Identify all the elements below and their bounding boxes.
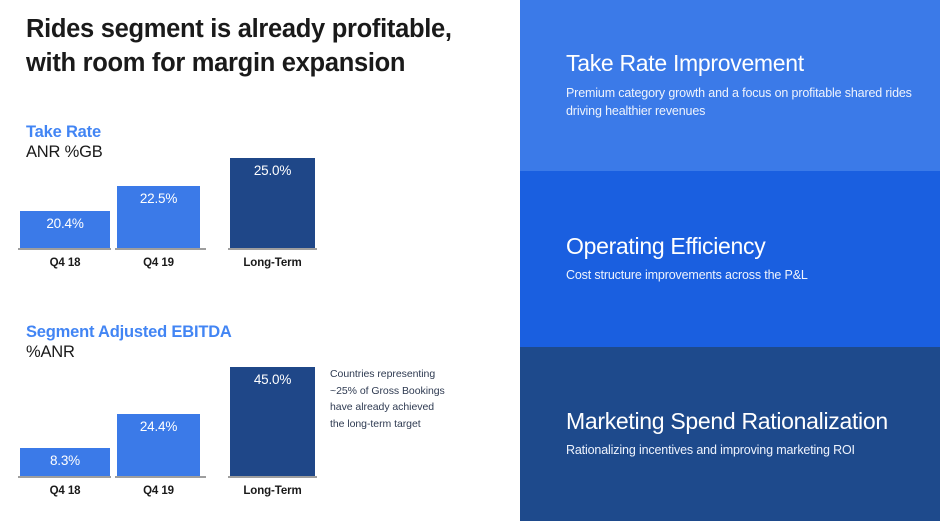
bar-label-ebitda-q4-18: Q4 18 [20,485,110,497]
annotation-line-4: the long-term target [330,418,421,430]
panel-marketing-spend-rationalization[interactable]: Marketing Spend Rationalization Rational… [520,347,940,521]
page-title-line-2: with room for margin expansion [26,49,405,77]
annotation-line-1: Countries representing [330,368,435,380]
annotation-line-3: have already achieved [330,401,434,413]
panel-title-operating-efficiency: Operating Efficiency [566,233,918,261]
panel-desc-take-rate-improvement: Premium category growth and a focus on p… [566,85,918,121]
axis-line-left [18,248,111,250]
page-title: Rides segment is already profitable, wit… [26,13,516,80]
bar-take-rate-q4-18[interactable]: 20.4% [20,211,110,248]
bar-value-take-rate-q4-18: 20.4% [20,216,110,231]
bar-value-ebitda-q4-18: 8.3% [20,453,110,468]
panel-title-marketing-spend-rationalization: Marketing Spend Rationalization [566,408,918,436]
bar-label-take-rate-q4-18: Q4 18 [20,257,110,269]
panel-desc-marketing-spend-rationalization: Rationalizing incentives and improving m… [566,442,918,460]
left-content-column: Rides segment is already profitable, wit… [0,0,520,521]
panel-desc-operating-efficiency: Cost structure improvements across the P… [566,267,918,285]
chart-take-rate-plot: 20.4% 22.5% 25.0% Q4 18 Q4 19 Long-Term [0,122,340,272]
chart-ebitda-plot: 8.3% 24.4% 45.0% Q4 18 Q4 19 Long-Term [0,322,340,500]
bar-value-take-rate-q4-19: 22.5% [117,191,200,206]
slide-root: Rides segment is already profitable, wit… [0,0,940,521]
bar-value-ebitda-long-term: 45.0% [230,372,315,387]
bar-label-take-rate-q4-19: Q4 19 [117,257,200,269]
axis-line-right [228,476,317,478]
panel-title-take-rate-improvement: Take Rate Improvement [566,50,918,78]
panel-operating-efficiency[interactable]: Operating Efficiency Cost structure impr… [520,171,940,347]
bar-label-take-rate-long-term: Long-Term [230,257,315,269]
axis-line-middle [115,248,206,250]
chart-ebitda-annotation: Countries representing ~25% of Gross Boo… [330,366,505,432]
bar-value-ebitda-q4-19: 24.4% [117,419,200,434]
right-panel-column: Take Rate Improvement Premium category g… [520,0,940,521]
panel-take-rate-improvement[interactable]: Take Rate Improvement Premium category g… [520,0,940,171]
axis-line-middle [115,476,206,478]
axis-line-right [228,248,317,250]
bar-ebitda-q4-19[interactable]: 24.4% [117,414,200,476]
panel-desc-line-1: Premium category growth and a focus on p… [566,86,841,100]
bar-ebitda-q4-18[interactable]: 8.3% [20,448,110,476]
bar-take-rate-long-term[interactable]: 25.0% [230,158,315,248]
bar-value-take-rate-long-term: 25.0% [230,163,315,178]
bar-label-ebitda-q4-19: Q4 19 [117,485,200,497]
annotation-line-2: ~25% of Gross Bookings [330,385,445,397]
bar-label-ebitda-long-term: Long-Term [230,485,315,497]
axis-line-left [18,476,111,478]
bar-ebitda-long-term[interactable]: 45.0% [230,367,315,476]
bar-take-rate-q4-19[interactable]: 22.5% [117,186,200,248]
page-title-line-1: Rides segment is already profitable, [26,15,452,43]
